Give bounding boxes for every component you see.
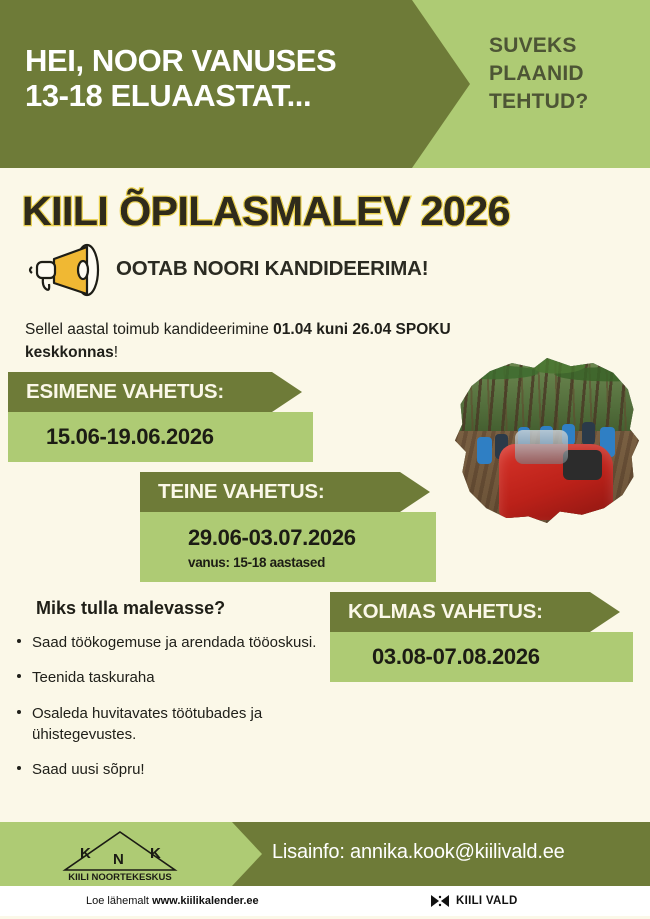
photo-person: [582, 422, 595, 445]
svg-text:K: K: [80, 845, 91, 862]
intro-text-1: Sellel aastal toimub kandideerimine: [25, 321, 273, 338]
youth-work-photo: [455, 358, 639, 523]
header-question-line3: TEHTUD?: [489, 88, 639, 116]
contact-email[interactable]: Lisainfo: annika.kook@kiilivald.ee: [272, 841, 565, 864]
list-item: Teenida taskuraha: [14, 667, 334, 688]
kiili-vald-label: KIILI VALD: [456, 895, 518, 907]
shift-3-header: KOLMAS VAHETUS:: [330, 592, 620, 632]
poster-subtitle: OOTAB NOORI KANDIDEERIMA!: [116, 257, 428, 281]
why-join-list: Saad töökogemuse ja arendada tööoskusi. …: [14, 632, 334, 794]
megaphone-icon: [24, 243, 110, 301]
header-headline-line1: HEI, NOOR VANUSES: [25, 44, 425, 79]
header-headline: HEI, NOOR VANUSES 13-18 ELUAASTAT...: [25, 44, 425, 113]
read-more-url[interactable]: www.kiilikalender.ee: [152, 895, 259, 907]
header-question-line1: SUVEKS: [489, 32, 639, 60]
shift-1-body: 15.06-19.06.2026: [8, 412, 313, 462]
intro-paragraph: Sellel aastal toimub kandideerimine 01.0…: [25, 318, 455, 365]
list-item: Saad töökogemuse ja arendada tööoskusi.: [14, 632, 334, 653]
shift-1-label: ESIMENE VAHETUS:: [8, 380, 224, 404]
header-question: SUVEKS PLAANID TEHTUD?: [489, 32, 639, 116]
shift-2-header: TEINE VAHETUS:: [140, 472, 430, 512]
poster-title: KIILI ÕPILASMALEV 2026: [22, 188, 510, 235]
shift-2-dates: 29.06-03.07.2026: [140, 525, 436, 551]
shift-3-dates: 03.08-07.08.2026: [330, 644, 633, 670]
shift-1-header: ESIMENE VAHETUS:: [8, 372, 302, 412]
shift-3-body: 03.08-07.08.2026: [330, 632, 633, 682]
kiili-noortekeskus-logo: K N K KIILI NOORTEKESKUS: [58, 828, 182, 882]
shift-2-age: vanus: 15-18 aastased: [140, 555, 436, 570]
kiili-vald-logo: KIILI VALD: [430, 894, 518, 908]
shift-3-label: KOLMAS VAHETUS:: [330, 600, 543, 624]
list-item: Osaleda huvitavates töötubades ja ühiste…: [14, 703, 334, 746]
intro-dates: 01.04 kuni 26.04: [273, 321, 391, 338]
list-item: Saad uusi sõpru!: [14, 759, 334, 780]
shift-1-dates: 15.06-19.06.2026: [8, 424, 313, 450]
svg-text:N: N: [113, 851, 124, 868]
header-question-line2: PLAANID: [489, 60, 639, 88]
photo-person: [477, 437, 492, 463]
header-headline-line2: 13-18 ELUAASTAT...: [25, 79, 425, 114]
why-join-title: Miks tulla malevasse?: [36, 598, 225, 619]
shift-2-label: TEINE VAHETUS:: [140, 480, 325, 504]
intro-text-3: !: [114, 344, 118, 361]
svg-text:K: K: [150, 845, 161, 862]
poster: HEI, NOOR VANUSES 13-18 ELUAASTAT... SUV…: [0, 0, 650, 919]
kiili-vald-mark-icon: [430, 894, 450, 908]
photo-foliage: [455, 358, 639, 394]
photo-atv: [499, 444, 613, 520]
shift-2-body: 29.06-03.07.2026 vanus: 15-18 aastased: [140, 512, 436, 582]
header-banner: HEI, NOOR VANUSES 13-18 ELUAASTAT... SUV…: [0, 0, 650, 168]
read-more: Loe lähemalt www.kiilikalender.ee: [86, 895, 259, 907]
read-more-label: Loe lähemalt: [86, 895, 149, 907]
logo-caption: KIILI NOORTEKESKUS: [68, 872, 171, 882]
